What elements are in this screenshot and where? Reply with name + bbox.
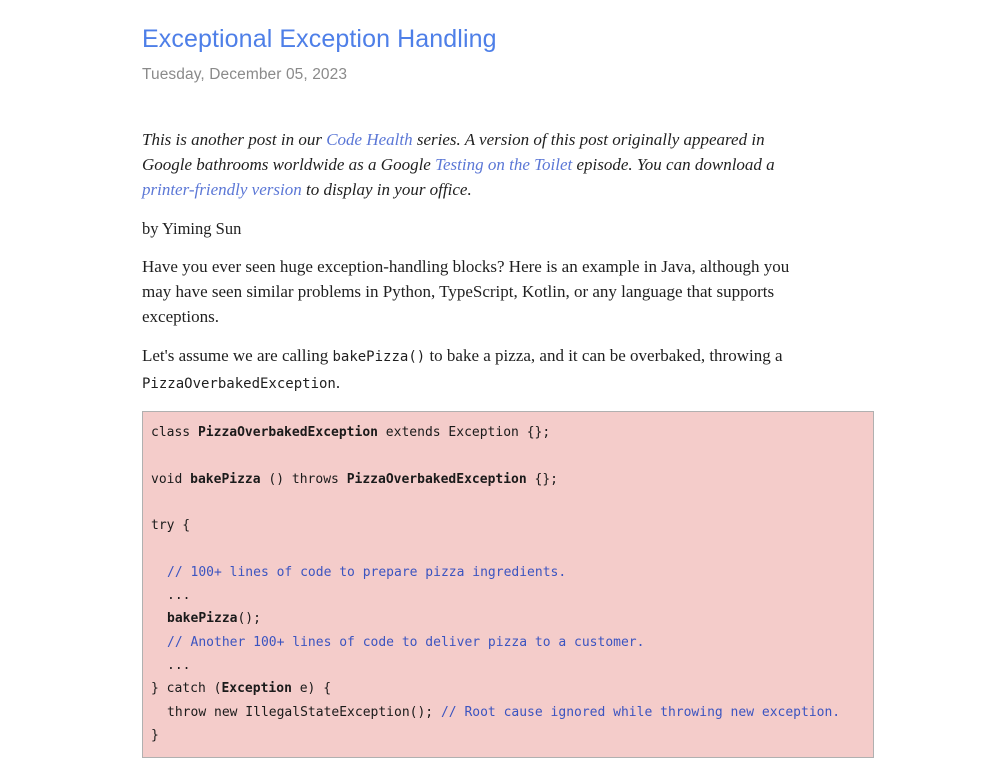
- inline-code-pizzaoverbakedexception: PizzaOverbakedException: [142, 376, 336, 392]
- para2-text-2: to bake a pizza, and it can be overbaked…: [425, 346, 782, 365]
- post-content: Exceptional Exception Handling Tuesday, …: [142, 0, 902, 758]
- blog-post-page: Exceptional Exception Handling Tuesday, …: [0, 0, 1000, 663]
- inline-code-bakepizza: bakePizza(): [332, 349, 425, 365]
- code-line-2: void bakePizza () throws PizzaOverbakedE…: [151, 468, 865, 491]
- code-token-exception-type: PizzaOverbakedException: [347, 472, 527, 487]
- code-token-braces: {};: [527, 472, 558, 487]
- body-paragraph-2: Let's assume we are calling bakePizza() …: [142, 329, 814, 397]
- link-code-health[interactable]: Code Health: [326, 130, 412, 149]
- code-token-catch-kw: } catch (: [151, 681, 221, 696]
- code-token-method-bakepizza: bakePizza: [190, 472, 260, 487]
- code-token-throws: () throws: [261, 472, 347, 487]
- code-line-11: }: [151, 724, 865, 747]
- link-printer-friendly-version[interactable]: printer-friendly version: [142, 180, 302, 199]
- page-title: Exceptional Exception Handling: [142, 0, 902, 54]
- code-line-6: bakePizza();: [151, 607, 865, 630]
- code-token-throw-stmt: throw new IllegalStateException();: [167, 705, 441, 720]
- para2-text-1: Let's assume we are calling: [142, 346, 332, 365]
- intro-paragraph: This is another post in our Code Health …: [142, 84, 807, 202]
- code-line-3: try {: [151, 514, 865, 537]
- code-line-9: } catch (Exception e) {: [151, 677, 865, 700]
- code-token-class-name: PizzaOverbakedException: [198, 425, 378, 440]
- post-byline: by Yiming Sun: [142, 202, 902, 240]
- code-token-call-parens: ();: [237, 611, 260, 626]
- intro-text-1: This is another post in our: [142, 130, 326, 149]
- code-line-1: class PizzaOverbakedException extends Ex…: [151, 421, 865, 444]
- code-comment-root-cause: // Root cause ignored while throwing new…: [441, 705, 840, 720]
- intro-text-3: episode. You can download a: [572, 155, 774, 174]
- para2-text-3: .: [336, 373, 340, 392]
- code-line-8: ...: [151, 654, 865, 677]
- post-date: Tuesday, December 05, 2023: [142, 54, 902, 84]
- code-comment-prepare: // 100+ lines of code to prepare pizza i…: [167, 565, 566, 580]
- body-paragraph-1: Have you ever seen huge exception-handli…: [142, 240, 814, 329]
- code-line-10: throw new IllegalStateException(); // Ro…: [151, 701, 865, 724]
- code-token-extends: extends Exception {};: [378, 425, 550, 440]
- code-token-void-kw: void: [151, 472, 190, 487]
- code-token-call-bakepizza: bakePizza: [167, 611, 237, 626]
- code-token-catch-type: Exception: [221, 681, 291, 696]
- code-line-7: // Another 100+ lines of code to deliver…: [151, 631, 865, 654]
- code-token-catch-var: e) {: [292, 681, 331, 696]
- code-block-java-example: class PizzaOverbakedException extends Ex…: [142, 411, 874, 758]
- code-line-blank-3: [151, 537, 865, 560]
- code-token-class-kw: class: [151, 425, 198, 440]
- code-line-4: // 100+ lines of code to prepare pizza i…: [151, 561, 865, 584]
- link-testing-on-the-toilet[interactable]: Testing on the Toilet: [435, 155, 572, 174]
- code-line-blank-1: [151, 444, 865, 467]
- code-comment-deliver: // Another 100+ lines of code to deliver…: [167, 635, 644, 650]
- code-line-blank-2: [151, 491, 865, 514]
- code-line-5: ...: [151, 584, 865, 607]
- intro-text-4: to display in your office.: [302, 180, 472, 199]
